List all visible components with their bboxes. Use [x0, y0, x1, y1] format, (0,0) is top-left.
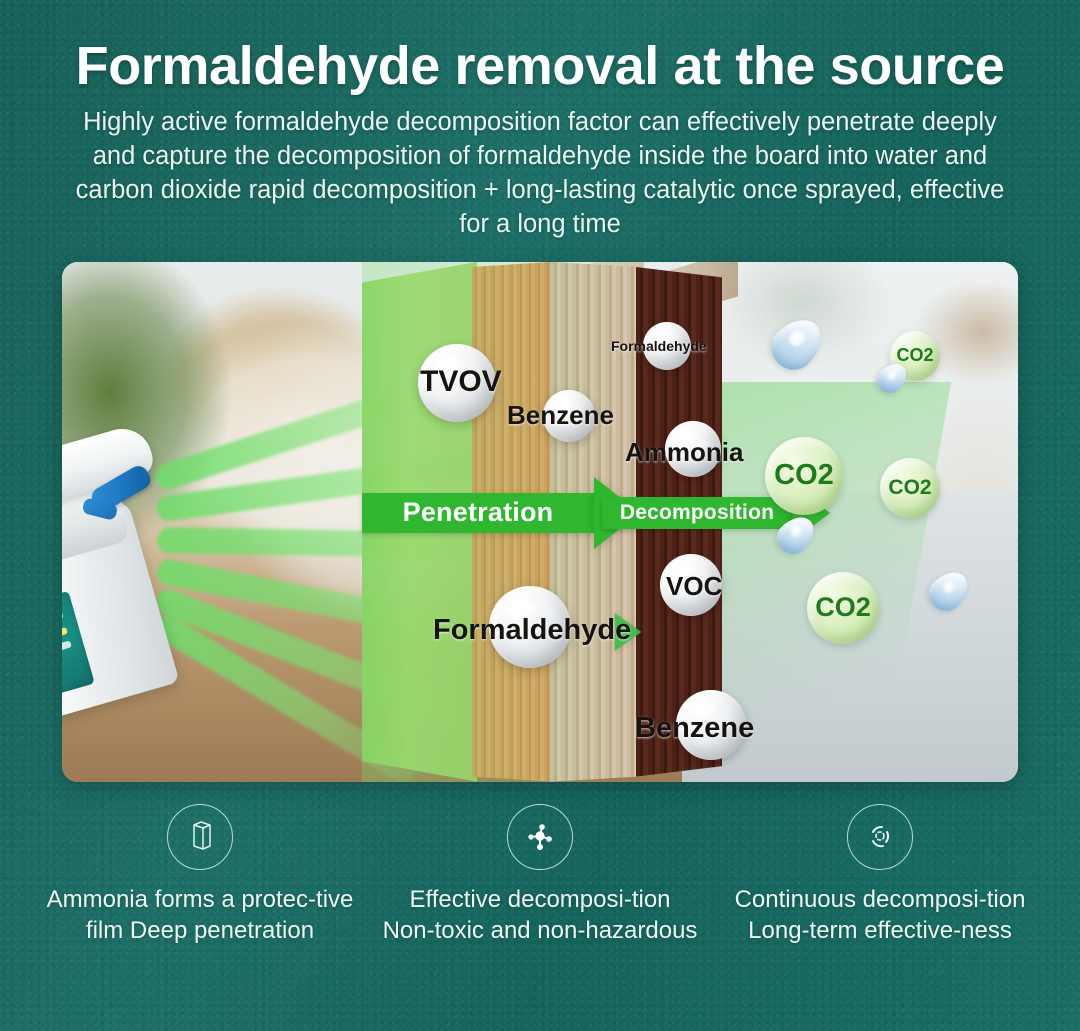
features-row: Ammonia forms a protec-tive film Deep pe…: [35, 804, 1045, 946]
co2-bubble-3: CO2: [880, 458, 940, 518]
feature-item-2: Effective decomposi-tion Non-toxic and n…: [375, 804, 705, 946]
feature-label-1: Ammonia forms a protec-tive film Deep pe…: [35, 884, 365, 946]
feature-label-3: Continuous decomposi-tion Long-term effe…: [715, 884, 1045, 946]
penetration-arrow: Penetration: [362, 477, 640, 549]
pollutant-label-formaldehyde-small: Formaldehyde: [611, 338, 707, 354]
co2-bubble-4: CO2: [807, 572, 879, 644]
page-subtitle: Highly active formaldehyde decomposition…: [60, 106, 1020, 242]
protective-film-icon: [167, 804, 233, 870]
pollutant-label-benzene-top: Benzene: [507, 400, 614, 431]
molecule-icon: [507, 804, 573, 870]
page-title: Formaldehyde removal at the source: [30, 38, 1050, 94]
continuous-cycle-icon: [847, 804, 913, 870]
pollutant-label-ammonia: Ammonia: [625, 437, 743, 468]
penetration-arrow-label: Penetration: [362, 493, 594, 533]
illustration-card: Penetration Decomposition TVOV Benzene F…: [62, 262, 1018, 782]
illustration-card-wrapper: Penetration Decomposition TVOV Benzene F…: [62, 262, 1018, 782]
header: Formaldehyde removal at the source Highl…: [0, 0, 1080, 242]
decomposition-arrow-label: Decomposition: [602, 497, 792, 529]
pollutant-label-tvov: TVOV: [420, 365, 502, 399]
feature-label-2: Effective decomposi-tion Non-toxic and n…: [375, 884, 705, 946]
co2-bubble-2: CO2: [765, 437, 843, 515]
pollutant-label-formaldehyde: Formaldehyde: [433, 614, 631, 647]
infographic-page: Formaldehyde removal at the source Highl…: [0, 0, 1080, 1031]
pollutant-label-benzene-bottom: Benzene: [635, 712, 754, 745]
feature-item-3: Continuous decomposi-tion Long-term effe…: [715, 804, 1045, 946]
feature-item-1: Ammonia forms a protec-tive film Deep pe…: [35, 804, 365, 946]
pollutant-label-voc: VOC: [666, 571, 722, 602]
